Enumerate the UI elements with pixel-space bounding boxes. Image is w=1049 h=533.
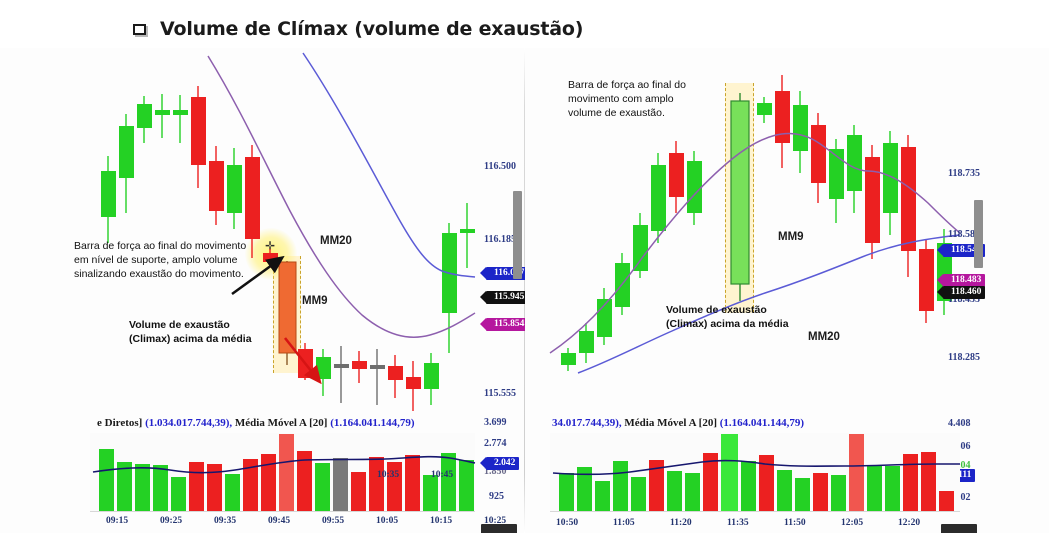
right-nav-box[interactable] xyxy=(941,524,977,533)
right-annot-exhaustion: Volume de exaustão (Climax) acima da méd… xyxy=(666,304,846,332)
right-volume-legend: 34.017.744,39), Média Móvel A [20] (1.16… xyxy=(552,417,804,429)
right-volume-pane[interactable] xyxy=(550,433,960,511)
right-mm20-label: MM20 xyxy=(808,331,840,343)
right-price-badge-black[interactable]: 118.460 xyxy=(943,286,985,299)
right-mm9-label: MM9 xyxy=(778,231,804,243)
right-volume-baseline xyxy=(550,511,960,512)
left-arrow-to-candle xyxy=(232,265,272,294)
right-price-scrollbar[interactable] xyxy=(974,200,983,268)
right-volume-svg xyxy=(550,433,960,511)
right-annot-strength-bar: Barra de força ao final do movimento com… xyxy=(568,79,758,121)
chart-right-panel[interactable]: MM9 MM20 118.735 118.585 118.435 118.285… xyxy=(525,48,1049,533)
slide-root: Volume de Clímax (volume de exaustão) ✛ xyxy=(0,0,1049,533)
left-annot-exhaustion: Volume de exaustão (Climax) acima da méd… xyxy=(129,319,309,347)
